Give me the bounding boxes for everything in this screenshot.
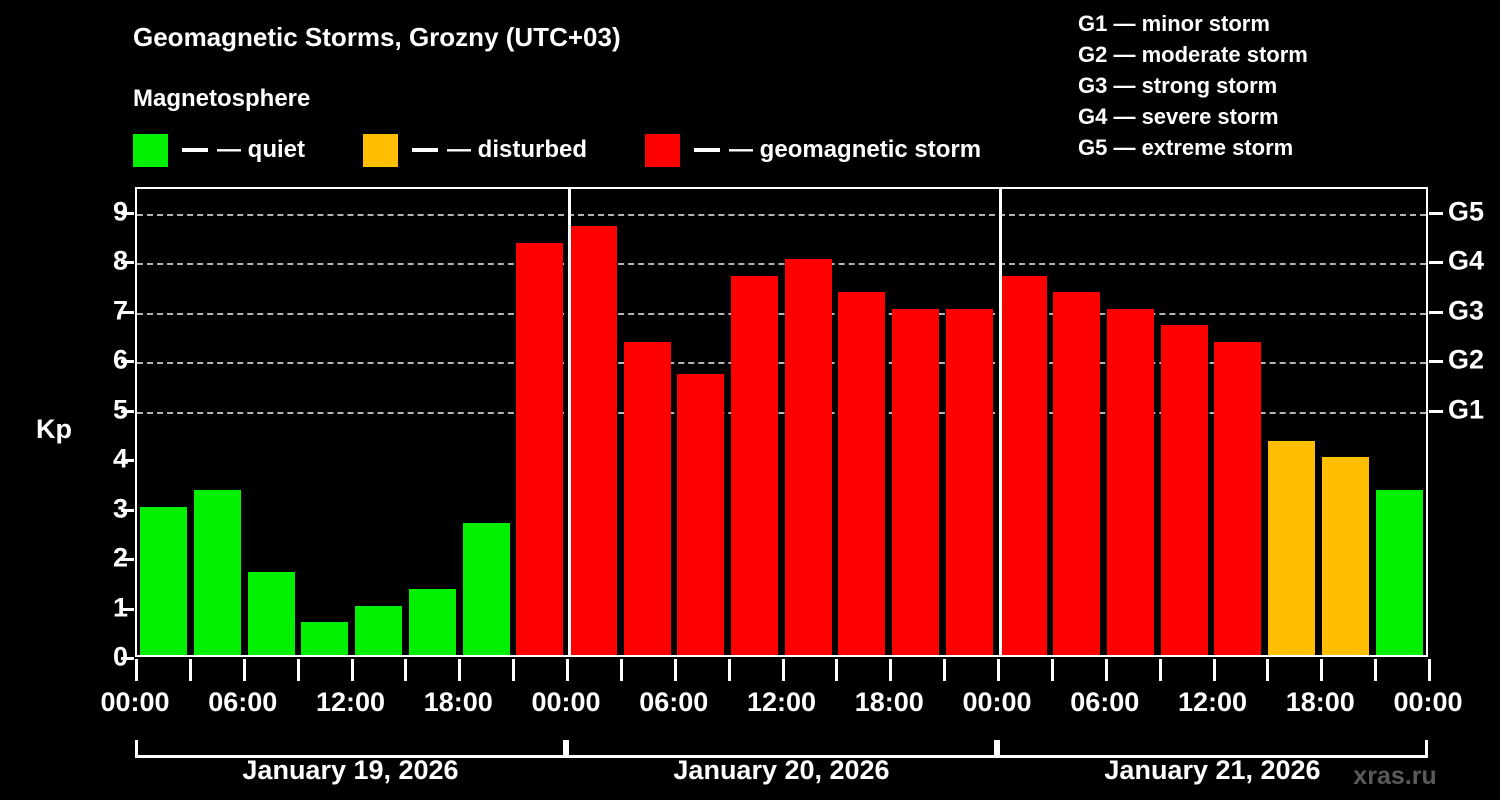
x-axis-tick-label: 18:00 (855, 687, 924, 718)
x-axis-tick-label: 12:00 (316, 687, 385, 718)
y-axis-tick (121, 509, 134, 512)
kp-bar (785, 259, 832, 655)
disturbed-color-swatch (363, 134, 398, 167)
storm-color-swatch (645, 134, 680, 167)
x-axis-tick-label: 06:00 (1070, 687, 1139, 718)
kp-bar (946, 309, 993, 655)
x-axis-tick-label: 00:00 (531, 687, 600, 718)
x-axis-tick (297, 659, 300, 681)
y-axis-tick (121, 410, 134, 413)
bar-cell (674, 189, 728, 655)
x-axis-tick (135, 659, 138, 681)
kp-bar (1107, 309, 1154, 655)
page-title: Geomagnetic Storms, Grozny (UTC+03) (133, 22, 621, 53)
bar-series (137, 189, 1426, 655)
kp-bar (838, 292, 885, 655)
kp-bar (409, 589, 456, 655)
x-axis-tick (620, 659, 623, 681)
kp-bar (1268, 441, 1315, 655)
right-axis-tick-label: G4 (1448, 248, 1484, 275)
kp-bar (140, 507, 187, 655)
x-axis-tick-label: 18:00 (424, 687, 493, 718)
x-axis-tick (1266, 659, 1269, 681)
bar-cell (943, 189, 997, 655)
bar-cell (835, 189, 889, 655)
bar-cell (352, 189, 406, 655)
right-axis-tick (1429, 360, 1443, 363)
x-axis-tick (1105, 659, 1108, 681)
right-axis-tick (1429, 261, 1443, 264)
kp-bar (1214, 342, 1261, 655)
bar-cell (244, 189, 298, 655)
kp-bar (248, 572, 295, 655)
x-axis-tick (243, 659, 246, 681)
y-axis-tick (121, 608, 134, 611)
kp-bar (570, 226, 617, 655)
y-axis-tick (121, 558, 134, 561)
legend: — quiet — disturbed — geomagnetic storm (133, 133, 1039, 167)
plot-area (135, 187, 1428, 657)
right-axis-tick-label: G3 (1448, 297, 1484, 324)
x-axis-tick-label: 12:00 (1178, 687, 1247, 718)
y-axis-tick (121, 360, 134, 363)
y-axis-tick (121, 261, 134, 264)
x-axis-tick (351, 659, 354, 681)
x-axis-tick (189, 659, 192, 681)
storm-scale-g5: G5 — extreme storm (1078, 132, 1308, 163)
y-axis-tick (121, 311, 134, 314)
x-axis-tick (1374, 659, 1377, 681)
x-axis-tick (1051, 659, 1054, 681)
x-axis-tick (889, 659, 892, 681)
day-label: January 19, 2026 (242, 755, 458, 786)
right-axis-tick (1429, 410, 1443, 413)
legend-label-disturbed: — disturbed (447, 136, 587, 164)
x-axis-tick (1213, 659, 1216, 681)
kp-bar (516, 243, 563, 655)
kp-bar (624, 342, 671, 655)
x-axis-tick (835, 659, 838, 681)
day-divider (999, 189, 1002, 655)
bar-cell (889, 189, 943, 655)
bar-cell (781, 189, 835, 655)
right-axis-tick-label: G1 (1448, 396, 1484, 423)
x-axis-tick (1320, 659, 1323, 681)
kp-bar (194, 490, 241, 655)
storm-scale-g4: G4 — severe storm (1078, 101, 1308, 132)
y-axis-labels: 0123456789 (88, 187, 128, 657)
bar-cell (1318, 189, 1372, 655)
right-axis-tick (1429, 311, 1443, 314)
storm-scale-legend: G1 — minor storm G2 — moderate storm G3 … (1078, 8, 1308, 163)
bar-cell (298, 189, 352, 655)
x-axis-tick (404, 659, 407, 681)
quiet-color-swatch (133, 134, 168, 167)
x-axis-tick (512, 659, 515, 681)
chart-subtitle: Magnetosphere (133, 85, 310, 113)
storm-scale-g3: G3 — strong storm (1078, 70, 1308, 101)
legend-item-quiet: — quiet (133, 134, 305, 167)
day-label: January 20, 2026 (673, 755, 889, 786)
bar-cell (1050, 189, 1104, 655)
y-axis-tick (121, 459, 134, 462)
chart-root: Geomagnetic Storms, Grozny (UTC+03) Magn… (0, 0, 1500, 800)
y-axis-tick (121, 212, 134, 215)
kp-bar (1322, 457, 1369, 655)
legend-dash-icon (182, 148, 208, 152)
x-axis-tick-label: 00:00 (100, 687, 169, 718)
legend-label-storm: — geomagnetic storm (729, 136, 981, 164)
x-axis-tick (458, 659, 461, 681)
storm-scale-g1: G1 — minor storm (1078, 8, 1308, 39)
legend-item-disturbed: — disturbed (363, 134, 587, 167)
bar-cell (1157, 189, 1211, 655)
bar-cell (996, 189, 1050, 655)
right-axis-tick (1429, 212, 1443, 215)
kp-bar (677, 374, 724, 655)
day-divider (568, 189, 571, 655)
day-label: January 21, 2026 (1104, 755, 1320, 786)
x-axis-tick (1428, 659, 1431, 681)
x-axis-tick (674, 659, 677, 681)
x-axis-tick-label: 06:00 (208, 687, 277, 718)
bar-cell (620, 189, 674, 655)
legend-dash-icon (412, 148, 438, 152)
bar-cell (567, 189, 621, 655)
kp-bar (731, 276, 778, 655)
legend-dash-icon (694, 148, 720, 152)
x-axis-tick-label: 18:00 (1286, 687, 1355, 718)
kp-bar (463, 523, 510, 655)
y-axis-tick (121, 657, 134, 660)
right-axis-tick-label: G5 (1448, 198, 1484, 225)
bar-cell (513, 189, 567, 655)
bar-cell (191, 189, 245, 655)
bar-cell (406, 189, 460, 655)
kp-bar (1161, 325, 1208, 655)
legend-label-quiet: — quiet (217, 136, 305, 164)
bar-cell (137, 189, 191, 655)
x-axis-tick-label: 12:00 (747, 687, 816, 718)
x-axis-tick (943, 659, 946, 681)
x-axis-tick (566, 659, 569, 681)
bar-cell (459, 189, 513, 655)
x-axis-tick-label: 00:00 (1393, 687, 1462, 718)
x-axis-tick (782, 659, 785, 681)
bar-cell (1372, 189, 1426, 655)
x-axis-tick-label: 06:00 (639, 687, 708, 718)
bar-cell (1211, 189, 1265, 655)
x-axis-tick (728, 659, 731, 681)
y-axis-title: Kp (36, 414, 72, 445)
kp-bar (1000, 276, 1047, 655)
kp-bar (301, 622, 348, 655)
right-axis-tick-label: G2 (1448, 347, 1484, 374)
legend-item-storm: — geomagnetic storm (645, 134, 981, 167)
x-axis-tick (1159, 659, 1162, 681)
kp-bar (1053, 292, 1100, 655)
storm-scale-g2: G2 — moderate storm (1078, 39, 1308, 70)
bar-cell (728, 189, 782, 655)
bar-cell (1265, 189, 1319, 655)
kp-bar (1376, 490, 1423, 655)
kp-bar (892, 309, 939, 655)
bar-cell (1104, 189, 1158, 655)
x-axis-tick-label: 00:00 (962, 687, 1031, 718)
watermark: xras.ru (1353, 762, 1436, 791)
x-axis-tick (997, 659, 1000, 681)
kp-bar (355, 606, 402, 655)
